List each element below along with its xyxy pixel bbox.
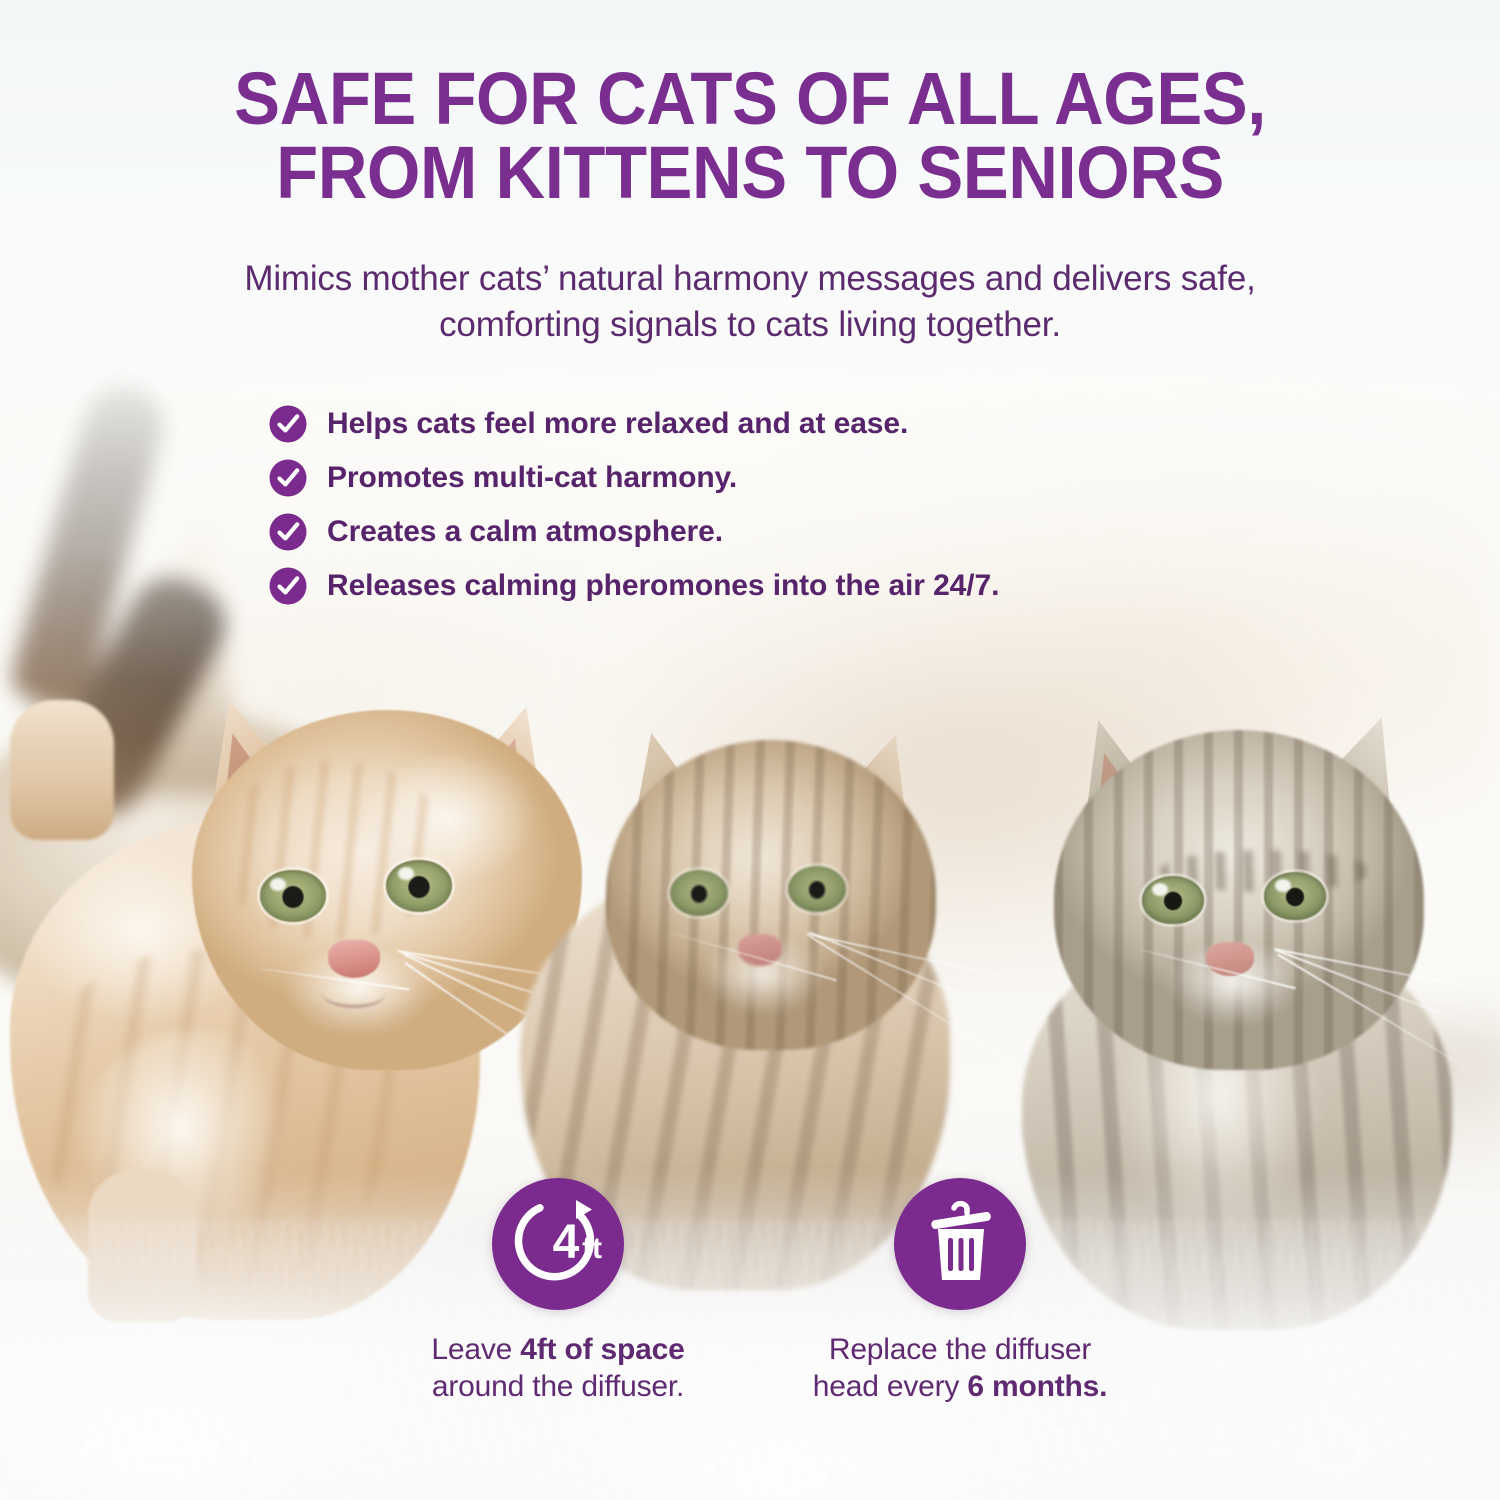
page-title: SAFE FOR CATS OF ALL AGES, FROM KITTENS … <box>53 62 1448 210</box>
caption-text: Leave <box>431 1333 520 1366</box>
list-item-label: Releases calming pheromones into the air… <box>327 571 999 601</box>
list-item-label: Promotes multi-cat harmony. <box>327 463 737 493</box>
list-item: Helps cats feel more relaxed and at ease… <box>268 398 1168 450</box>
usage-badge-spacing: 4 ft Leave 4ft of space around the diffu… <box>378 1178 738 1405</box>
check-circle-icon <box>268 512 308 552</box>
infographic-canvas: SAFE FOR CATS OF ALL AGES, FROM KITTENS … <box>0 0 1500 1500</box>
caption-line-1: Replace the diffuser <box>780 1332 1140 1369</box>
list-item: Releases calming pheromones into the air… <box>268 560 1168 612</box>
list-item-label: Helps cats feel more relaxed and at ease… <box>327 409 908 439</box>
caption-emphasis: 4ft of space <box>520 1333 684 1366</box>
headline-line-2: FROM KITTENS TO SENIORS <box>53 136 1448 210</box>
benefits-list: Helps cats feel more relaxed and at ease… <box>268 398 1168 614</box>
list-item: Creates a calm atmosphere. <box>268 506 1168 558</box>
circular-arrow-4ft-icon: 4 ft <box>492 1178 624 1310</box>
check-circle-icon <box>268 458 308 498</box>
subheading-line-1: Mimics mother cats’ natural harmony mess… <box>130 256 1370 302</box>
caption-line-2: head every 6 months. <box>780 1369 1140 1406</box>
usage-badge-spacing-caption: Leave 4ft of space around the diffuser. <box>378 1332 738 1405</box>
usage-badge-replacement: Replace the diffuser head every 6 months… <box>780 1178 1140 1405</box>
subheading-line-2: comforting signals to cats living togeth… <box>130 302 1370 348</box>
overlay-content: SAFE FOR CATS OF ALL AGES, FROM KITTENS … <box>0 0 1500 1500</box>
caption-text: head every <box>813 1370 968 1403</box>
trash-can-icon <box>894 1178 1026 1310</box>
usage-badge-replacement-caption: Replace the diffuser head every 6 months… <box>780 1332 1140 1405</box>
usage-instructions: 4 ft Leave 4ft of space around the diffu… <box>0 1178 1500 1448</box>
check-circle-icon <box>268 566 308 606</box>
headline-line-1: SAFE FOR CATS OF ALL AGES, <box>53 62 1448 136</box>
check-circle-icon <box>268 404 308 444</box>
list-item-label: Creates a calm atmosphere. <box>327 517 723 547</box>
caption-emphasis: 6 months. <box>967 1370 1107 1403</box>
caption-line-1: Leave 4ft of space <box>378 1332 738 1369</box>
svg-text:ft: ft <box>582 1232 602 1265</box>
svg-text:4: 4 <box>553 1216 580 1269</box>
list-item: Promotes multi-cat harmony. <box>268 452 1168 504</box>
subheading: Mimics mother cats’ natural harmony mess… <box>130 256 1370 347</box>
caption-line-2: around the diffuser. <box>378 1369 738 1406</box>
